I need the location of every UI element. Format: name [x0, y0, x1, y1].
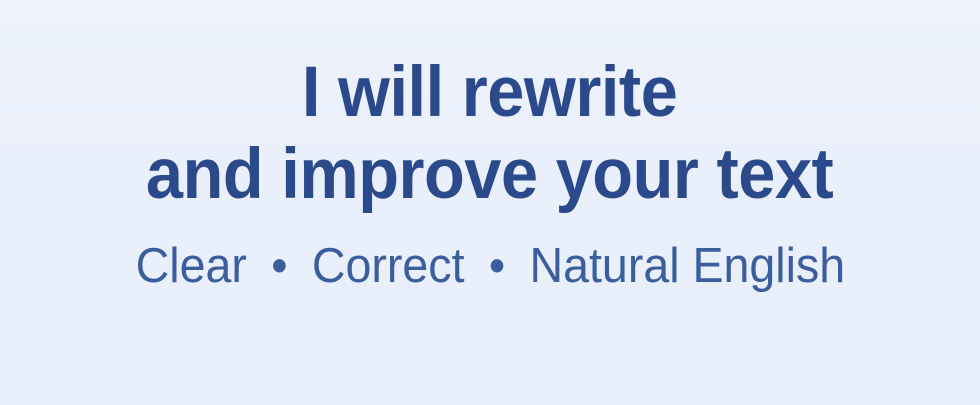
- subtitle: Clear • Correct • Natural English: [135, 238, 844, 294]
- banner-content: I will rewrite and improve your text Cle…: [0, 52, 980, 294]
- headline: I will rewrite and improve your text: [146, 52, 833, 216]
- subtitle-item-correct: Correct: [311, 239, 464, 293]
- subtitle-item-clear: Clear: [135, 239, 246, 293]
- bullet-separator-icon: •: [259, 239, 298, 293]
- promo-banner: I will rewrite and improve your text Cle…: [0, 0, 980, 405]
- headline-line-2: and improve your text: [146, 134, 833, 216]
- headline-line-1: I will rewrite: [146, 52, 833, 134]
- bullet-separator-icon: •: [477, 239, 516, 293]
- subtitle-item-natural-english: Natural English: [529, 239, 845, 293]
